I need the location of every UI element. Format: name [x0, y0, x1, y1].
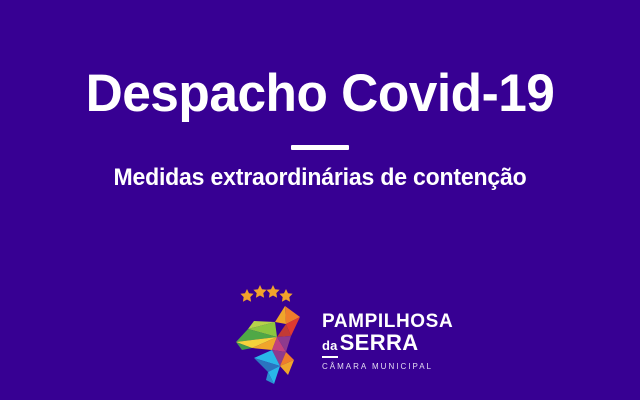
page-title: Despacho Covid-19: [10, 66, 631, 122]
logo-wordmark: PAMPILHOSA da SERRA CÂMARA MUNICIPAL: [322, 312, 428, 371]
page-subtitle: Medidas extraordinárias de contenção: [13, 164, 627, 192]
logo-mark-icon: [228, 280, 320, 388]
logo-stars-icon: [240, 285, 292, 302]
wordmark-pampilhosa: PAMPILHOSA: [322, 312, 428, 332]
wordmark-da: da: [322, 335, 338, 358]
logo-bird-facets: [236, 306, 300, 384]
wordmark-serra: SERRA: [340, 332, 419, 353]
municipality-logo: PAMPILHOSA da SERRA CÂMARA MUNICIPAL: [228, 280, 428, 388]
wordmark-serra-line: da SERRA: [322, 332, 428, 358]
title-divider: [291, 145, 349, 150]
slide-canvas: Despacho Covid-19 Medidas extraordinária…: [0, 0, 640, 400]
wordmark-camara-municipal: CÂMARA MUNICIPAL: [322, 362, 428, 371]
